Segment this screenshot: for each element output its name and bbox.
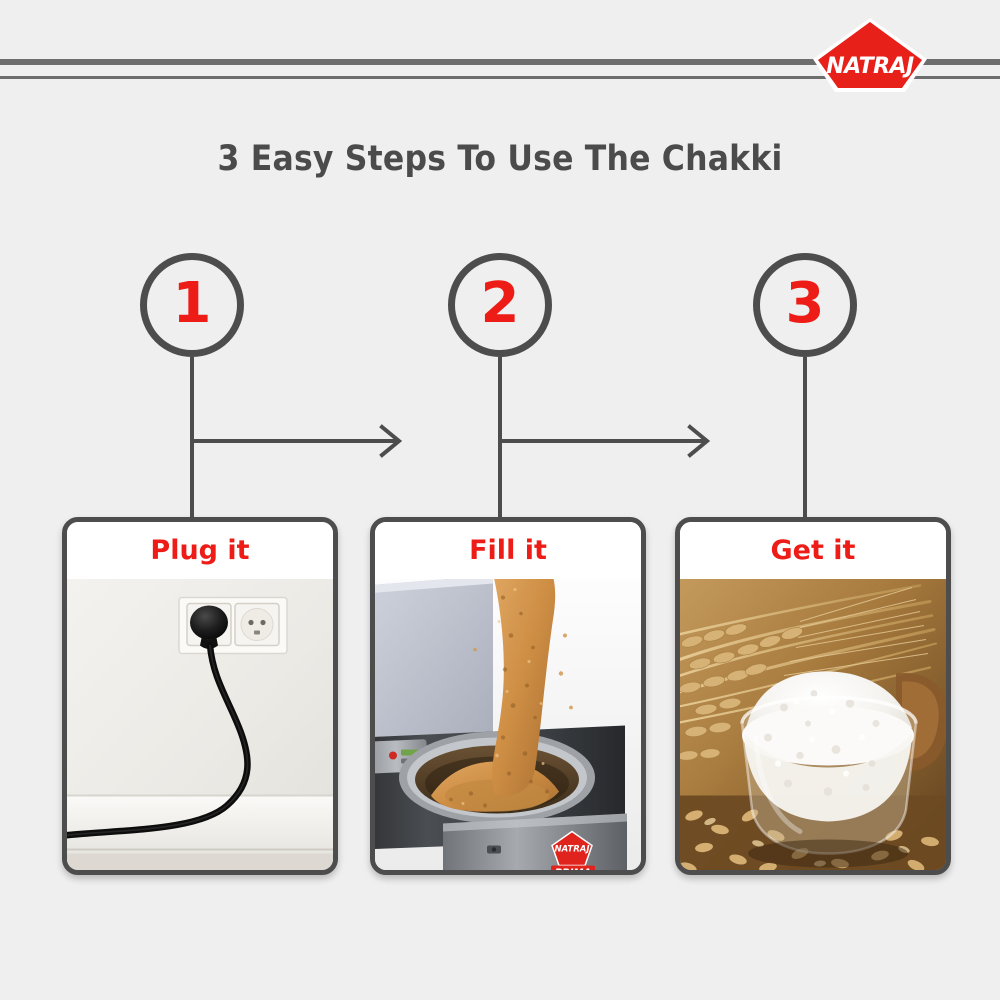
- step-1-card[interactable]: Plug it: [62, 517, 338, 875]
- step-2-label: Fill it: [375, 522, 641, 579]
- infographic-canvas: NATRAJ 3 Easy Steps To Use The Chakki 1 …: [0, 0, 1000, 1000]
- flour-bowl-wheat-photo: [680, 579, 946, 870]
- step-1-circle: 1: [140, 253, 244, 357]
- step-3-number: 3: [760, 260, 850, 350]
- step-2-number: 2: [455, 260, 545, 350]
- step-1: 1 Plug it: [55, 0, 355, 1000]
- natraj-logo-text: NATRAJ: [826, 54, 914, 79]
- step-3-label: Get it: [680, 522, 946, 579]
- step-1-number: 1: [147, 260, 237, 350]
- step-3-connector-line: [803, 357, 807, 520]
- natraj-logo: NATRAJ: [811, 16, 929, 94]
- step-3-circle: 3: [753, 253, 857, 357]
- svg-text:NATRAJ: NATRAJ: [555, 845, 590, 855]
- step-2: 2 Fill it: [363, 0, 663, 1000]
- step-1-label: Plug it: [67, 522, 333, 579]
- step-2-circle: 2: [448, 253, 552, 357]
- step-3: 3 Get it: [668, 0, 968, 1000]
- wall-socket-plug-photo: [67, 579, 333, 870]
- svg-text:PRIMA: PRIMA: [555, 868, 591, 871]
- step-3-card[interactable]: Get it: [675, 517, 951, 875]
- step-2-card[interactable]: Fill it: [370, 517, 646, 875]
- chakki-grain-filling-photo: NATRAJ PRIMA: [375, 579, 641, 870]
